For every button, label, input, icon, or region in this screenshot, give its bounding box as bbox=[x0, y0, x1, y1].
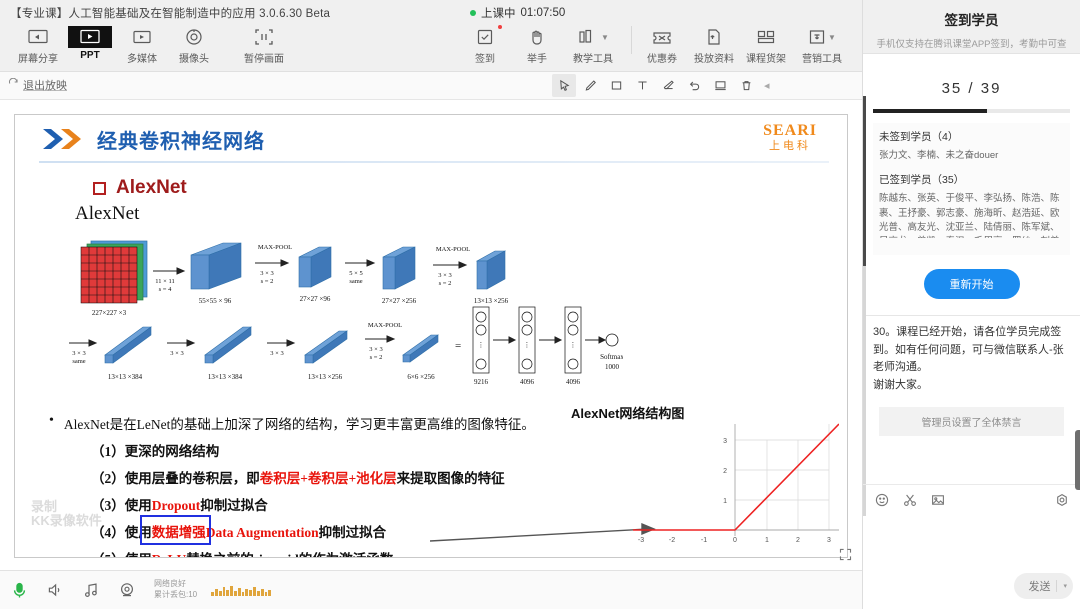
speaker-icon[interactable] bbox=[44, 579, 66, 601]
svg-text:3 × 3: 3 × 3 bbox=[72, 350, 85, 357]
screen-recorder-watermark: 录制KK录像软件 bbox=[31, 500, 131, 542]
cursor-icon[interactable] bbox=[552, 74, 576, 97]
tool-row: 屏幕分享 PPT 多媒体 bbox=[0, 26, 862, 72]
panel-scrollbar[interactable] bbox=[863, 96, 866, 516]
tencent-classroom-window: 【专业课】人工智能基础及在智能制造中的应用 3.0.6.30 Beta 上课中 … bbox=[0, 0, 1080, 609]
coupon-icon bbox=[643, 26, 681, 48]
bullet-dot-icon: • bbox=[49, 413, 54, 433]
raise-hand-icon bbox=[518, 26, 556, 48]
live-dot-icon bbox=[470, 10, 476, 16]
pen-icon[interactable] bbox=[578, 74, 602, 97]
svg-text:3 × 3: 3 × 3 bbox=[170, 350, 183, 357]
panel-scrollbar-thumb[interactable] bbox=[863, 96, 866, 266]
tool-label: 举手 bbox=[527, 50, 547, 65]
bullet-1-num: （1） bbox=[91, 444, 125, 459]
bullet-3-t2: 抑制过拟合 bbox=[200, 498, 268, 513]
seari-logo-main: SEARI bbox=[763, 123, 817, 139]
bullet-5: （5）使用ReLU替换之前的sigmoid的作为激活函数 bbox=[91, 548, 689, 558]
exit-presentation-label: 退出放映 bbox=[23, 77, 67, 93]
checkin-panel-header: 签到学员 手机仅支持在腾讯课堂APP签到，考勤中可查 bbox=[863, 0, 1080, 54]
bullet-intro-row: • AlexNet是在LeNet的基础上加深了网络的结构，学习更丰富更高维的图像… bbox=[49, 413, 689, 433]
svg-text:3: 3 bbox=[827, 537, 831, 544]
bottom-status-bar: 网络良好 累计丢包:10 bbox=[0, 570, 862, 609]
chevron-down-icon: ▼ bbox=[828, 33, 836, 42]
emoji-icon[interactable] bbox=[875, 493, 889, 507]
refresh-icon bbox=[8, 78, 19, 92]
tool-course-shelf[interactable]: 课程货架 bbox=[742, 26, 790, 65]
restart-button[interactable]: 重新开始 bbox=[924, 269, 1020, 299]
seari-logo-sub: 上电科 bbox=[763, 141, 817, 152]
presentation-bar: 退出放映 bbox=[0, 72, 862, 100]
tool-label: 签到 bbox=[475, 50, 495, 65]
header-rule bbox=[39, 161, 829, 163]
svg-text:same: same bbox=[72, 358, 85, 365]
checkin-name-lists: 未签到学员（4） 张力文、李楠、未之奋douer 已签到学员（35） 陈越东、张… bbox=[873, 123, 1070, 255]
tool-camera[interactable]: 摄像头 bbox=[170, 26, 218, 65]
live-time: 01:07:50 bbox=[521, 7, 566, 19]
slide-header: 经典卷积神经网络 SEARI 上电科 bbox=[15, 115, 847, 173]
svg-text:MAX-POOL: MAX-POOL bbox=[368, 322, 402, 329]
svg-text:-1: -1 bbox=[701, 537, 707, 544]
svg-text:2: 2 bbox=[723, 468, 727, 475]
svg-text:9216: 9216 bbox=[474, 378, 489, 386]
chat-input-area[interactable]: 发送 ▾ bbox=[863, 514, 1080, 609]
svg-text:s = 4: s = 4 bbox=[159, 286, 172, 293]
svg-text:1: 1 bbox=[723, 498, 727, 505]
svg-text:0: 0 bbox=[733, 537, 737, 544]
checkin-progress-bar bbox=[873, 109, 1070, 113]
text-icon[interactable] bbox=[630, 74, 654, 97]
app-title: 【专业课】人工智能基础及在智能制造中的应用 3.0.6.30 Beta bbox=[10, 5, 330, 21]
svg-text:6×6 ×256: 6×6 ×256 bbox=[407, 373, 435, 381]
tool-label: 优惠券 bbox=[647, 50, 677, 65]
svg-text:2: 2 bbox=[796, 537, 800, 544]
tool-pause-frame[interactable]: 暂停画面 bbox=[236, 26, 292, 65]
svg-text:13×13 ×384: 13×13 ×384 bbox=[108, 373, 143, 381]
tool-label: 投放资料 bbox=[694, 50, 734, 65]
top-bar: 【专业课】人工智能基础及在智能制造中的应用 3.0.6.30 Beta 上课中 … bbox=[0, 0, 862, 72]
packet-loss-label: 累计丢包:10 bbox=[154, 590, 197, 601]
system-note: 管理员设置了全体禁言 bbox=[879, 407, 1064, 436]
slide-subtitle: AlexNet bbox=[116, 177, 187, 199]
svg-text:1000: 1000 bbox=[605, 363, 620, 371]
svg-text:s = 2: s = 2 bbox=[370, 354, 383, 361]
tool-label: 多媒体 bbox=[127, 50, 157, 65]
annotation-more-icon[interactable]: ◂ bbox=[764, 79, 770, 92]
bullet-5-t0: 使用 bbox=[125, 552, 152, 558]
send-divider bbox=[1056, 580, 1057, 592]
fullscreen-icon[interactable] bbox=[839, 548, 852, 566]
svg-text:1: 1 bbox=[765, 537, 769, 544]
screen-share-icon bbox=[19, 26, 57, 48]
svg-text:s = 2: s = 2 bbox=[439, 280, 452, 287]
checkin-panel-subtitle: 手机仅支持在腾讯课堂APP签到，考勤中可查 bbox=[863, 36, 1080, 50]
bullet-3-t1: Dropout bbox=[152, 498, 201, 513]
tool-label: 暂停画面 bbox=[244, 50, 284, 65]
svg-text:⋮: ⋮ bbox=[478, 342, 485, 349]
square-bullet-icon bbox=[93, 182, 106, 195]
svg-text:MAX-POOL: MAX-POOL bbox=[258, 244, 292, 251]
svg-text:-3: -3 bbox=[638, 537, 644, 544]
checkin-count: 35 / 39 bbox=[863, 54, 1080, 109]
bullet-5-t2: 替换之前的sigmoid的作为激活函数 bbox=[186, 552, 393, 558]
image-icon[interactable] bbox=[931, 493, 945, 507]
tool-label: 摄像头 bbox=[179, 50, 209, 65]
svg-text:=: = bbox=[455, 340, 461, 352]
live-status: 上课中 01:07:50 bbox=[470, 0, 565, 26]
ppt-icon bbox=[68, 26, 112, 48]
trash-icon[interactable] bbox=[734, 74, 758, 97]
bullet-4-t2: 抑制过拟合 bbox=[319, 525, 387, 540]
not-signed-names: 张力文、李楠、未之奋douer bbox=[879, 149, 1064, 163]
svg-text:⋮: ⋮ bbox=[570, 342, 577, 349]
tool-label: 课程货架 bbox=[746, 50, 786, 65]
tool-coupon[interactable]: 优惠券 bbox=[638, 26, 686, 65]
svg-text:3 × 3: 3 × 3 bbox=[438, 272, 451, 279]
bullet-2-t2: 来提取图像的特征 bbox=[397, 471, 505, 486]
live-label: 上课中 bbox=[481, 5, 516, 21]
send-button[interactable]: 发送 ▾ bbox=[1014, 573, 1073, 599]
slide-subtitle-row: AlexNet bbox=[93, 177, 187, 199]
checkin-icon bbox=[466, 26, 504, 48]
chevron-down-icon: ▼ bbox=[601, 33, 609, 42]
bullet-2: （2）使用层叠的卷积层，即卷积层+卷积层+池化层来提取图像的特征 bbox=[91, 467, 689, 487]
restart-row: 重新开始 bbox=[863, 269, 1080, 299]
send-label: 发送 bbox=[1028, 578, 1050, 594]
bullet-intro: AlexNet是在LeNet的基础上加深了网络的结构，学习更丰富更高维的图像特征… bbox=[64, 413, 535, 433]
seari-logo: SEARI 上电科 bbox=[763, 123, 817, 152]
chat-toolbar bbox=[863, 484, 1080, 514]
rectangle-icon[interactable] bbox=[604, 74, 628, 97]
svg-text:⋮: ⋮ bbox=[524, 342, 531, 349]
svg-text:27×27 ×96: 27×27 ×96 bbox=[300, 295, 331, 303]
svg-text:3 × 3: 3 × 3 bbox=[260, 270, 273, 277]
audio-level-meter bbox=[211, 584, 271, 596]
tool-label: 教学工具 bbox=[573, 50, 613, 65]
slide-title: 经典卷积神经网络 bbox=[97, 125, 265, 154]
tool-label: PPT bbox=[80, 50, 99, 61]
relu-plot: 3 2 1 -3 -2 -1 0 1 2 3 bbox=[617, 418, 839, 553]
tool-marketing-tools[interactable]: ▼ 营销工具 bbox=[794, 26, 850, 65]
camera-device-icon[interactable] bbox=[116, 579, 138, 601]
tool-share-material[interactable]: 投放资料 bbox=[690, 26, 738, 65]
tool-teaching-tools[interactable]: ▼ 教学工具 bbox=[565, 26, 621, 65]
svg-text:same: same bbox=[349, 278, 362, 285]
chat-area: 30。课程已经开始，请各位学员完成签到。如有任何问题，可与微信联系人-张老师沟通… bbox=[863, 316, 1080, 435]
svg-text:13×13 ×384: 13×13 ×384 bbox=[208, 373, 243, 381]
svg-text:Softmax: Softmax bbox=[600, 353, 623, 361]
svg-text:4096: 4096 bbox=[520, 378, 535, 386]
not-signed-header: 未签到学员（4） bbox=[879, 129, 1064, 144]
signed-header: 已签到学员（35） bbox=[879, 172, 1064, 187]
checkin-badge bbox=[498, 25, 502, 29]
multimedia-icon bbox=[123, 26, 161, 48]
signed-names: 陈越东、张英、于俊平、李弘扬、陈浩、陈裹、王抒豪、郭志豪、施海昕、赵浩延、欧光普… bbox=[879, 192, 1064, 238]
exit-presentation-button[interactable]: 退出放映 bbox=[8, 77, 67, 93]
presentation-stage: 经典卷积神经网络 SEARI 上电科 AlexNet AlexNet bbox=[0, 100, 862, 570]
tool-right-group: 签到 举手 ▼ bbox=[461, 26, 854, 65]
settings-icon[interactable] bbox=[1055, 493, 1069, 507]
tool-label: 屏幕分享 bbox=[18, 50, 58, 65]
svg-text:27×27 ×256: 27×27 ×256 bbox=[382, 297, 417, 305]
bullet-5-t1: ReLU bbox=[152, 552, 187, 558]
bullet-5-num: （5） bbox=[91, 552, 125, 558]
svg-text:13×13 ×256: 13×13 ×256 bbox=[474, 297, 509, 305]
svg-text:3 × 3: 3 × 3 bbox=[369, 346, 382, 353]
bullet-3: （3）使用Dropout抑制过拟合 bbox=[91, 494, 689, 514]
undo-icon[interactable] bbox=[682, 74, 706, 97]
toolbar-divider bbox=[631, 26, 632, 54]
whiteboard-icon[interactable] bbox=[708, 74, 732, 97]
svg-text:55×55 × 96: 55×55 × 96 bbox=[199, 297, 232, 305]
svg-text:11 × 11: 11 × 11 bbox=[155, 278, 174, 285]
bullet-1: （1）更深的网络结构 bbox=[91, 440, 689, 460]
tool-checkin[interactable]: 签到 bbox=[461, 26, 509, 65]
bullet-2-t0: 使用层叠的卷积层，即 bbox=[125, 471, 260, 486]
camera-icon bbox=[175, 26, 213, 48]
microphone-icon[interactable] bbox=[8, 579, 30, 601]
tool-ppt[interactable]: PPT bbox=[66, 26, 114, 61]
tool-raise-hand[interactable]: 举手 bbox=[513, 26, 561, 65]
alexnet-architecture-diagram: AlexNet 227×227 ×3 bbox=[63, 203, 623, 383]
marketing-tools-icon: ▼ bbox=[803, 26, 841, 48]
music-icon[interactable] bbox=[80, 579, 102, 601]
teaching-tools-icon: ▼ bbox=[574, 26, 612, 48]
eraser-icon[interactable] bbox=[656, 74, 680, 97]
bullet-2-num: （2） bbox=[91, 471, 125, 486]
bullet-2-t1: 卷积层+卷积层+池化层 bbox=[260, 471, 397, 486]
svg-text:227×227 ×3: 227×227 ×3 bbox=[92, 309, 127, 317]
svg-text:5 × 5: 5 × 5 bbox=[349, 270, 362, 277]
chat-message: 30。课程已经开始，请各位学员完成签到。如有任何问题，可与微信联系人-张老师沟通… bbox=[873, 324, 1070, 394]
svg-text:13×13 ×256: 13×13 ×256 bbox=[308, 373, 343, 381]
network-status-label: 网络良好 bbox=[154, 579, 197, 590]
share-material-icon bbox=[695, 26, 733, 48]
svg-text:3 × 3: 3 × 3 bbox=[270, 350, 283, 357]
svg-text:4096: 4096 bbox=[566, 378, 581, 386]
diagram-name: AlexNet bbox=[75, 203, 139, 225]
right-panel: 签到学员 手机仅支持在腾讯课堂APP签到，考勤中可查 35 / 39 未签到学员… bbox=[862, 0, 1080, 609]
chevron-decoration-icon bbox=[41, 127, 89, 151]
panel-drag-handle[interactable] bbox=[1075, 430, 1080, 490]
tool-multimedia[interactable]: 多媒体 bbox=[118, 26, 166, 65]
slide-canvas[interactable]: 经典卷积神经网络 SEARI 上电科 AlexNet AlexNet bbox=[14, 114, 848, 558]
svg-text:-2: -2 bbox=[669, 537, 675, 544]
svg-text:3: 3 bbox=[723, 438, 727, 445]
bullet-1-t0: 更深的网络结构 bbox=[125, 444, 220, 459]
tool-label: 营销工具 bbox=[802, 50, 842, 65]
scissors-icon[interactable] bbox=[903, 493, 917, 507]
title-row: 【专业课】人工智能基础及在智能制造中的应用 3.0.6.30 Beta 上课中 … bbox=[0, 0, 862, 26]
pause-frame-icon bbox=[245, 26, 283, 48]
network-status: 网络良好 累计丢包:10 bbox=[154, 579, 197, 601]
svg-text:s = 2: s = 2 bbox=[261, 278, 274, 285]
ink-annotation-rectangle[interactable] bbox=[140, 515, 211, 545]
svg-text:MAX-POOL: MAX-POOL bbox=[436, 246, 470, 253]
course-shelf-icon bbox=[747, 26, 785, 48]
checkin-panel-title: 签到学员 bbox=[863, 9, 1080, 29]
annotation-toolbar: ◂ bbox=[552, 74, 770, 97]
chevron-down-icon[interactable]: ▾ bbox=[1063, 582, 1067, 590]
tool-screen-share[interactable]: 屏幕分享 bbox=[14, 26, 62, 65]
